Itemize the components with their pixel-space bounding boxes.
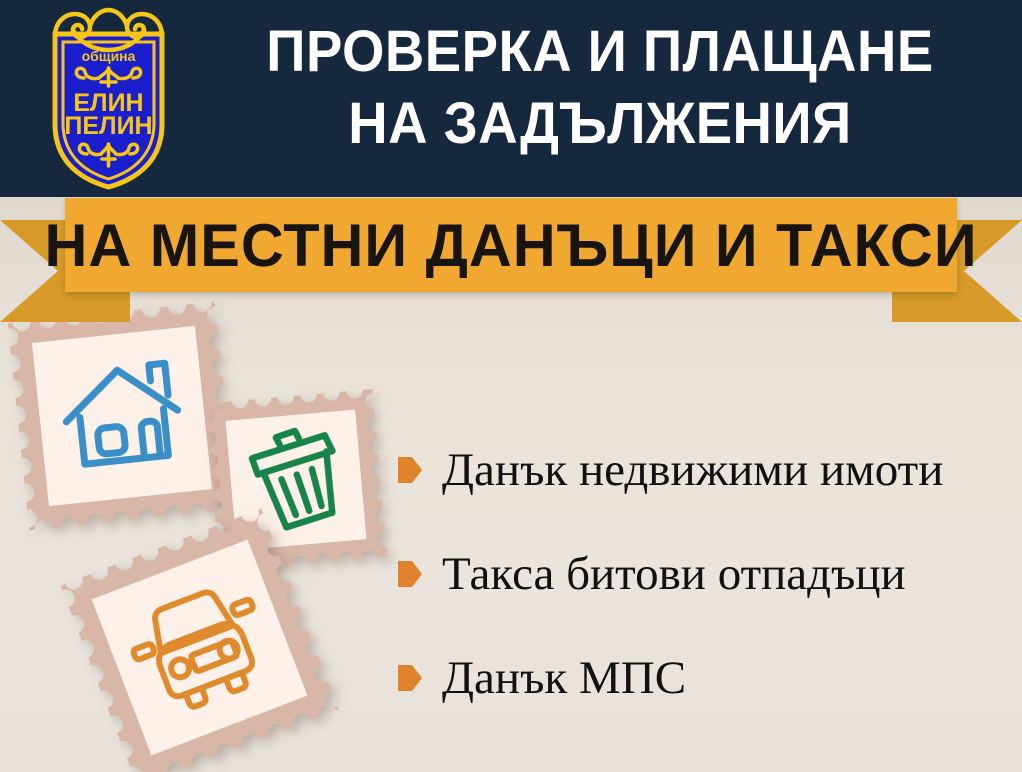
header-bar: община ЕЛИН ПЕЛИН: [0, 0, 1022, 197]
bullet-arrow-icon: [398, 561, 422, 587]
stamp-card-house: [8, 302, 237, 531]
list-item-label: Данък МПС: [442, 653, 686, 703]
title-line-2: НА ЗАДЪЛЖЕНИЯ: [215, 88, 986, 160]
poster-root: община ЕЛИН ПЕЛИН: [0, 0, 1022, 772]
title-line-1: ПРОВЕРКА И ПЛАЩАНЕ: [215, 16, 986, 88]
ribbon-label: НА МЕСТНИ ДАНЪЦИ И ТАКСИ: [69, 198, 952, 292]
list-item-label: Данък недвижими имоти: [442, 445, 943, 495]
list-item-label: Такса битови отпадъци: [442, 549, 906, 599]
list-item[interactable]: Такса битови отпадъци: [398, 522, 1012, 626]
ribbon-band: НА МЕСТНИ ДАНЪЦИ И ТАКСИ: [65, 198, 957, 292]
bullet-arrow-icon: [398, 457, 422, 483]
bullet-arrow-icon: [398, 665, 422, 691]
logo-name-line2: ПЕЛИН: [64, 112, 152, 140]
municipality-logo: община ЕЛИН ПЕЛИН: [31, 6, 186, 191]
stamp-inner: [32, 326, 212, 506]
list-item[interactable]: Данък МПС: [398, 626, 1012, 730]
logo-small-label: община: [82, 48, 136, 64]
list-item[interactable]: Данък недвижими имоти: [398, 418, 1012, 522]
ribbon-banner: НА МЕСТНИ ДАНЪЦИ И ТАКСИ: [0, 196, 1022, 322]
tax-list: Данък недвижими имоти Такса битови отпад…: [398, 418, 1012, 730]
poster-title: ПРОВЕРКА И ПЛАЩАНЕ НА ЗАДЪЛЖЕНИЯ: [190, 16, 1010, 160]
